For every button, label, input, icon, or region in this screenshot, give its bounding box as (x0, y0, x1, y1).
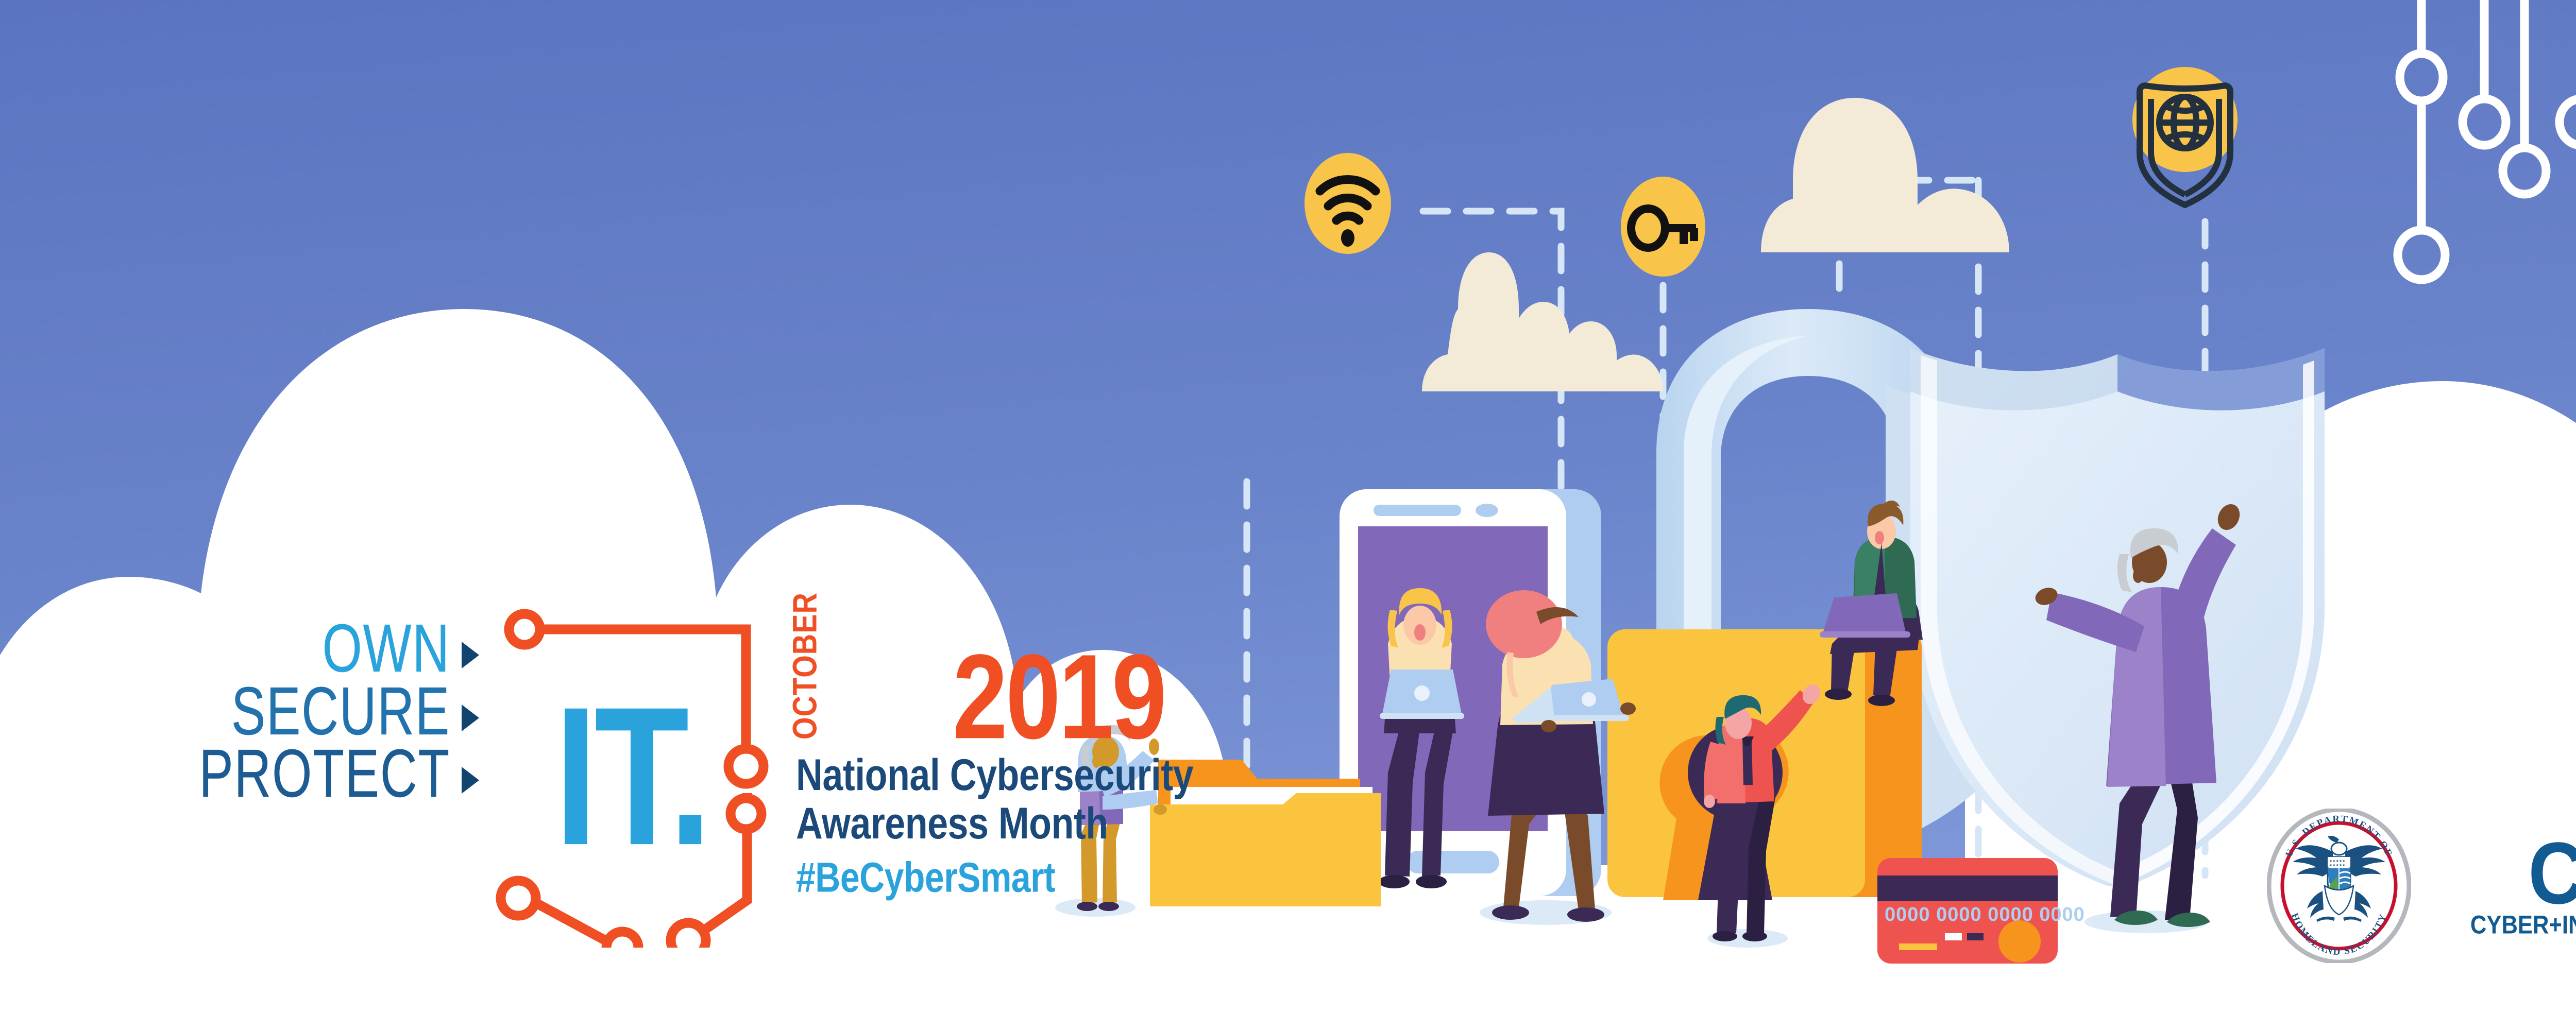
cisa-logo: CISA CYBER+INFRASTRUCTURE (2469, 835, 2576, 936)
month-year-row: OCTOBER 2019 (796, 649, 1126, 744)
year-label: 2019 (953, 650, 1165, 744)
slogan-row-protect: PROTECT (191, 752, 479, 815)
arrow-icon-secure (462, 705, 479, 731)
slogan-secure: SECURE (231, 678, 450, 743)
cybersecurity-awareness-banner: 0000 0000 0000 0000 (0, 0, 2576, 1030)
cisa-tagline: CYBER+INFRASTRUCTURE (2470, 911, 2576, 940)
credit-card: 0000 0000 0000 0000 (1877, 858, 2085, 964)
campaign-lockup: OWN SECURE PROTECT (155, 587, 1123, 948)
it-wordmark-group: IT. (484, 587, 814, 948)
month-label: OCTOBER (785, 592, 819, 740)
dhs-seal: ★★★★★ ★★★★★ (2267, 809, 2411, 963)
credit-card-number: 0000 0000 0000 0000 (1885, 904, 2085, 925)
svg-text:★★★★★: ★★★★★ (2329, 859, 2345, 863)
campaign-title-line1: National Cybersecurity (796, 752, 1116, 799)
svg-text:★★★★★: ★★★★★ (2329, 863, 2345, 867)
arrow-icon-own (462, 642, 479, 668)
campaign-hashtag: #BeCyberSmart (796, 856, 1116, 898)
slogan-stack: OWN SECURE PROTECT (191, 627, 479, 815)
cisa-acronym: CISA (2528, 835, 2576, 913)
date-block: OCTOBER 2019 National Cybersecurity Awar… (796, 649, 1126, 892)
key-icon (1621, 177, 1705, 277)
agency-logos: ★★★★★ ★★★★★ (2267, 793, 2576, 978)
campaign-title-line2: Awareness Month (796, 800, 1116, 847)
dhs-seal-graphic: ★★★★★ ★★★★★ (2267, 809, 2411, 963)
it-wordmark-text: IT. (554, 699, 709, 853)
wifi-icon (1304, 153, 1391, 254)
arrow-icon-protect (462, 767, 479, 794)
slogan-own: OWN (323, 615, 450, 680)
slogan-protect: PROTECT (199, 741, 450, 806)
